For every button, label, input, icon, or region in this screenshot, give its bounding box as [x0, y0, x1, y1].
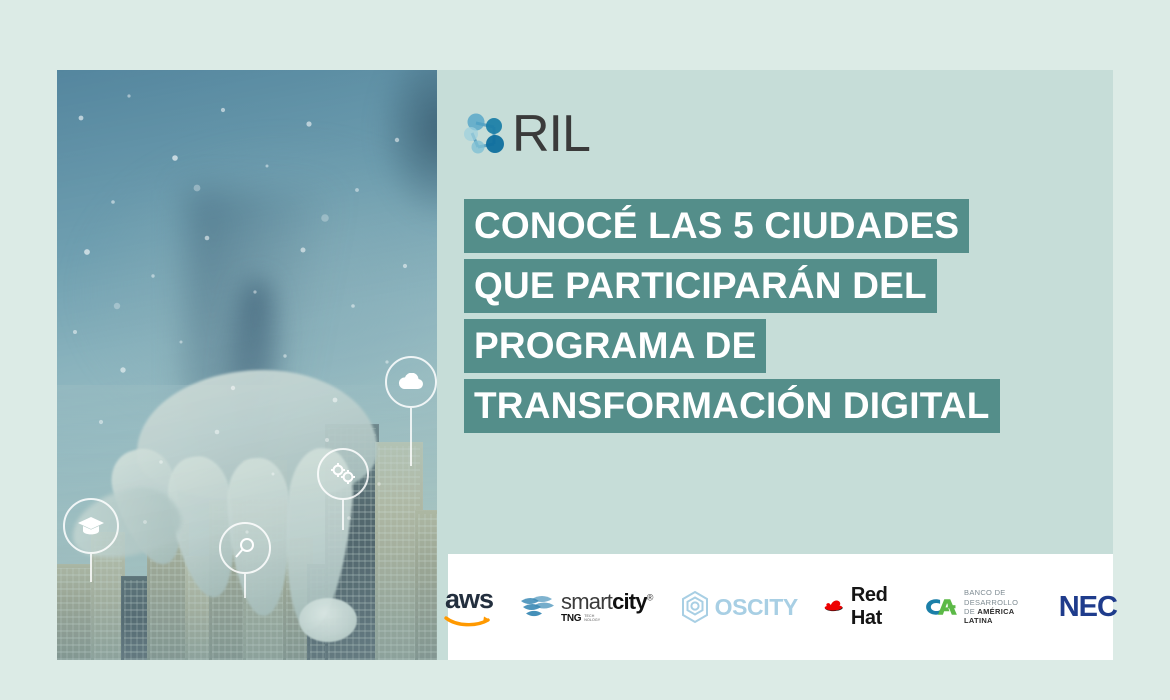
oscity-hex-icon — [679, 590, 711, 624]
gears-icon — [317, 448, 369, 500]
partner-logo-oscity: OSCITY — [679, 590, 798, 624]
partner-logo-redhat: Red Hat — [824, 584, 899, 630]
smartcity-waves-icon — [520, 594, 556, 620]
smartcity-tng-label: TNG — [561, 614, 581, 624]
smartcity-wordmark: smartcity® — [561, 591, 653, 613]
partner-logo-caf: BANCO DE DESARROLLO DE AMÉRICA LATINA — [924, 588, 1032, 626]
caf-tagline-line-2: DE AMÉRICA LATINA — [964, 607, 1033, 626]
cloud-icon — [385, 356, 437, 408]
hero-photo — [57, 70, 437, 660]
redhat-wordmark: Red Hat — [851, 584, 899, 630]
headline-line-3: PROGRAMA DE — [464, 319, 766, 373]
slide-canvas: RIL CONOCÉ LAS 5 CIUDADES QUE PARTICIPAR… — [0, 0, 1170, 700]
red-hat-fedora-icon — [824, 595, 845, 619]
aws-wordmark: aws — [445, 587, 493, 611]
oscity-wordmark: OSCITY — [715, 594, 798, 621]
nec-wordmark: NEC — [1059, 591, 1117, 624]
ril-wordmark: RIL — [512, 108, 590, 160]
headline-line-2: QUE PARTICIPARÁN DEL — [464, 259, 937, 313]
caf-tagline-line-1: BANCO DE DESARROLLO — [964, 588, 1033, 607]
partner-logo-aws: aws — [444, 587, 494, 627]
partner-logo-nec: NEC — [1059, 591, 1117, 624]
smartcity-fine-2: NOLOGY — [584, 618, 600, 622]
magnifier-icon — [219, 522, 271, 574]
aws-smile-icon — [444, 612, 494, 627]
headline-line-4: TRANSFORMACIÓN DIGITAL — [464, 379, 1000, 433]
graduation-cap-icon — [63, 498, 119, 554]
ril-logo: RIL — [464, 108, 590, 160]
partner-logo-smartcity: smartcity® TNG TECH NOLOGY — [520, 591, 653, 624]
partner-logo-bar: aws smartcity® TNG — [448, 554, 1113, 660]
headline-line-1: CONOCÉ LAS 5 CIUDADES — [464, 199, 969, 253]
molecule-network-icon — [464, 111, 508, 157]
headline: CONOCÉ LAS 5 CIUDADES QUE PARTICIPARÁN D… — [464, 199, 1084, 439]
caf-monogram-icon — [924, 593, 958, 621]
